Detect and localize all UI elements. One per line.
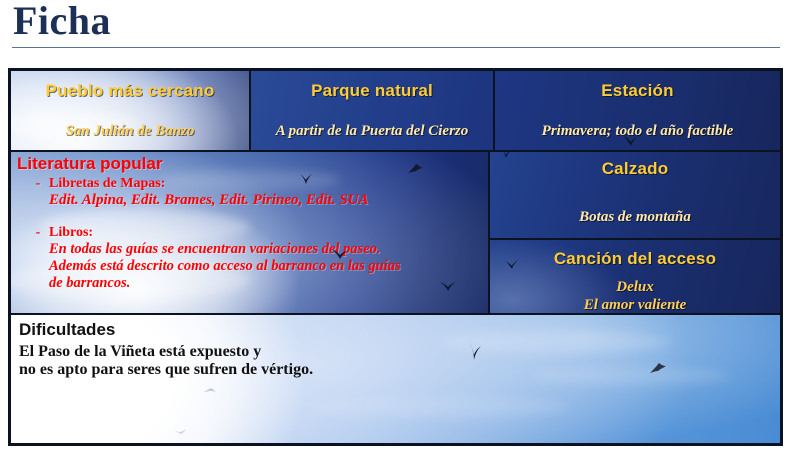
table-row-dificultades: Dificultades El Paso de la Viñeta está e…: [11, 313, 780, 443]
cell-estacion-value: Primavera; todo el año factible: [495, 123, 780, 140]
literatura-header: Literatura popular: [17, 154, 488, 174]
literatura-item-label: Libros:: [49, 225, 401, 241]
row-divider-1: [11, 150, 780, 152]
literatura-item-line: de barrancos.: [49, 275, 401, 292]
dificultades-header: Dificultades: [19, 320, 780, 340]
column-divider-3: [488, 150, 490, 313]
table-row-middle: Literatura popular - Libretas de Mapas: …: [11, 150, 780, 313]
table-row-top: Pueblo más cercano San Julián de Banzo P…: [11, 71, 780, 150]
cell-parque-value: A partir de la Puerta del Cierzo: [251, 123, 493, 140]
ficha-table: Pueblo más cercano San Julián de Banzo P…: [8, 68, 783, 446]
title-divider: [12, 47, 780, 48]
cell-estacion-header: Estación: [495, 81, 780, 101]
cell-literatura: Literatura popular - Libretas de Mapas: …: [11, 150, 488, 313]
cell-estacion: Estación Primavera; todo el año factible: [495, 71, 780, 150]
dificultades-line: El Paso de la Viñeta está expuesto y: [19, 343, 780, 361]
cell-pueblo-header: Pueblo más cercano: [11, 81, 249, 101]
column-divider-2: [493, 71, 495, 150]
cell-pueblo-value: San Julián de Banzo: [11, 123, 249, 140]
row-divider-calzado-cancion: [490, 238, 780, 240]
row-divider-2: [11, 313, 780, 315]
literatura-item-line: En todas las guías se encuentran variaci…: [49, 241, 401, 258]
cell-parque-header: Parque natural: [251, 81, 493, 101]
dificultades-line: no es apto para seres que sufren de vért…: [19, 361, 780, 379]
calzado-header: Calzado: [490, 159, 780, 179]
cancion-value-line: Delux: [490, 279, 780, 296]
cancion-header: Canción del acceso: [490, 249, 780, 269]
page-title: Ficha: [13, 0, 111, 44]
cell-calzado-cancion: Calzado Botas de montaña Canción del acc…: [490, 150, 780, 313]
literatura-bullet-marker: -: [17, 225, 49, 292]
column-divider-1: [249, 71, 251, 150]
literatura-item-line: Además está descrito como acceso al barr…: [49, 258, 401, 275]
cell-parque: Parque natural A partir de la Puerta del…: [251, 71, 493, 150]
literatura-bullet-marker: -: [17, 176, 49, 209]
calzado-value: Botas de montaña: [490, 209, 780, 226]
literatura-item-label: Libretas de Mapas:: [49, 176, 369, 192]
cancion-value-line: El amor valiente: [490, 297, 780, 313]
cell-pueblo: Pueblo más cercano San Julián de Banzo: [11, 71, 249, 150]
cell-dificultades: Dificultades El Paso de la Viñeta está e…: [11, 313, 780, 443]
literatura-item-line: Edit. Alpina, Edit. Brames, Edit. Pirine…: [49, 192, 369, 209]
